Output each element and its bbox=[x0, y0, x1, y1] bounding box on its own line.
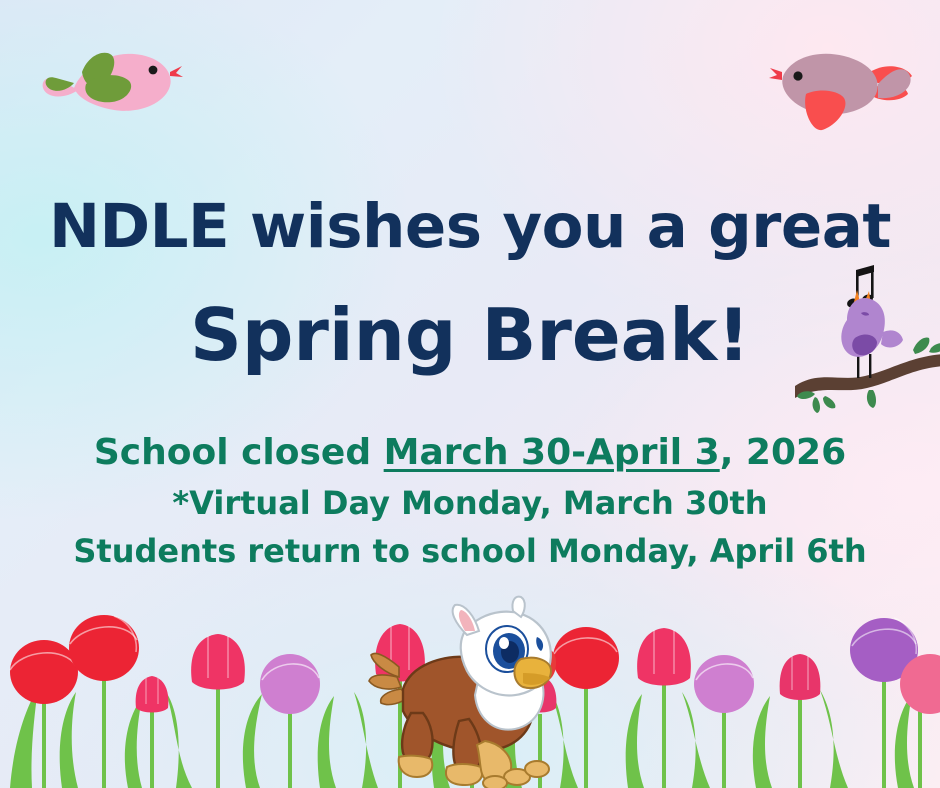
details-line-1-suffix: , 2026 bbox=[720, 432, 846, 473]
headline-line-1: NDLE wishes you a great bbox=[49, 196, 891, 257]
spring-break-poster: NDLE wishes you a great Spring Break! Sc… bbox=[0, 0, 940, 788]
details-line-2: *Virtual Day Monday, March 30th bbox=[172, 487, 767, 519]
text-content-layer: NDLE wishes you a great Spring Break! Sc… bbox=[0, 0, 940, 788]
details-line-1: School closed March 30-April 3, 2026 bbox=[94, 435, 846, 471]
details-line-1-dates: March 30-April 3 bbox=[384, 432, 720, 473]
details-line-1-prefix: School closed bbox=[94, 432, 384, 473]
headline-line-2: Spring Break! bbox=[190, 299, 750, 371]
details-line-3: Students return to school Monday, April … bbox=[73, 535, 866, 567]
